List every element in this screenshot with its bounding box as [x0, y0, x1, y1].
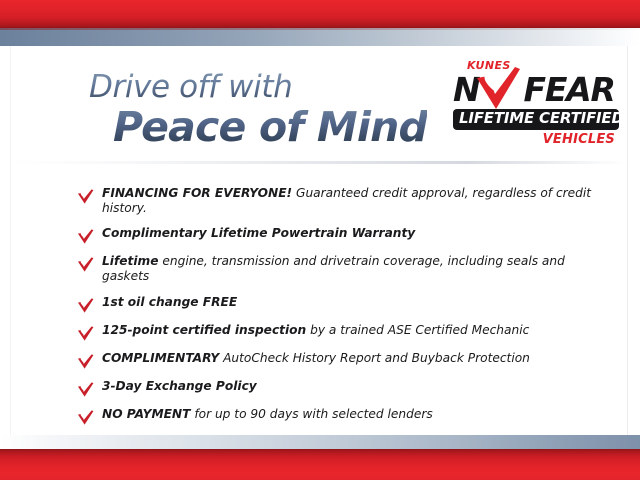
top-blue-band	[0, 28, 640, 46]
benefit-item: Lifetime engine, transmission and drivet…	[77, 254, 607, 284]
benefit-text: Complimentary Lifetime Powertrain Warran…	[102, 226, 415, 241]
check-icon-wrap	[77, 226, 102, 244]
benefit-item: NO PAYMENT for up to 90 days with select…	[77, 407, 607, 425]
benefit-headline: 1st oil change FREE	[102, 295, 237, 309]
check-icon-wrap	[77, 351, 102, 369]
logo-letter-n: N	[453, 70, 479, 109]
logo-letter-gap: O	[479, 70, 523, 109]
check-icon-wrap	[77, 407, 102, 425]
headline-line-1: Drive off with	[89, 72, 427, 103]
check-icon	[77, 382, 94, 397]
check-icon-wrap	[77, 295, 102, 313]
check-icon	[77, 298, 94, 313]
check-icon	[77, 354, 94, 369]
header: Drive off with Peace of Mind KUNES NOFEA…	[11, 46, 627, 164]
logo-word-nofear: NOFEAR	[453, 72, 619, 108]
benefit-item: 3-Day Exchange Policy	[77, 379, 607, 397]
check-icon	[77, 257, 94, 272]
benefit-item: COMPLIMENTARY AutoCheck History Report a…	[77, 351, 607, 369]
benefit-detail: AutoCheck History Report and Buyback Pro…	[219, 351, 530, 365]
check-icon-wrap	[77, 379, 102, 397]
check-icon-wrap	[77, 186, 102, 204]
benefit-text: NO PAYMENT for up to 90 days with select…	[102, 407, 433, 422]
header-divider	[11, 161, 627, 164]
benefit-text: Lifetime engine, transmission and drivet…	[102, 254, 607, 284]
benefit-headline: 3-Day Exchange Policy	[102, 379, 257, 393]
benefit-headline: FINANCING FOR EVERYONE!	[102, 186, 292, 200]
benefit-item: 125-point certified inspection by a trai…	[77, 323, 607, 341]
benefit-detail: for up to 90 days with selected lenders	[190, 407, 432, 421]
benefit-item: FINANCING FOR EVERYONE! Guaranteed credi…	[77, 186, 607, 216]
logo-lifetime-certified-banner: LIFETIME CERTIFIED	[453, 109, 619, 130]
bottom-red-band	[0, 449, 640, 480]
benefit-text: 1st oil change FREE	[102, 295, 237, 310]
check-icon	[77, 189, 94, 204]
promo-flyer: Drive off with Peace of Mind KUNES NOFEA…	[0, 0, 640, 480]
logo-vehicles-text: VEHICLES	[453, 133, 619, 146]
page-title: Drive off with Peace of Mind	[89, 72, 427, 148]
benefit-text: 3-Day Exchange Policy	[102, 379, 257, 394]
check-icon	[77, 410, 94, 425]
top-red-band	[0, 0, 640, 28]
benefit-headline: Complimentary Lifetime Powertrain Warran…	[102, 226, 415, 240]
check-icon-wrap	[77, 323, 102, 341]
check-icon	[77, 229, 94, 244]
benefit-headline: NO PAYMENT	[102, 407, 190, 421]
benefit-text: 125-point certified inspection by a trai…	[102, 323, 529, 338]
benefit-headline: Lifetime	[102, 254, 158, 268]
logo-wordmark: NOFEAR	[453, 72, 619, 108]
benefits-list: FINANCING FOR EVERYONE! Guaranteed credi…	[77, 186, 607, 478]
check-icon-wrap	[77, 254, 102, 272]
check-icon	[77, 326, 94, 341]
kunes-no-fear-logo: KUNES NOFEAR LIFETIME CERTIFIED VEHICLES	[453, 60, 619, 146]
headline-line-2: Peace of Mind	[113, 107, 427, 148]
benefit-headline: COMPLIMENTARY	[102, 351, 219, 365]
benefit-item: 1st oil change FREE	[77, 295, 607, 313]
content-card: Drive off with Peace of Mind KUNES NOFEA…	[10, 46, 628, 445]
logo-word-fear: FEAR	[523, 70, 614, 109]
benefit-detail: by a trained ASE Certified Mechanic	[306, 323, 529, 337]
benefit-text: COMPLIMENTARY AutoCheck History Report a…	[102, 351, 530, 366]
benefit-item: Complimentary Lifetime Powertrain Warran…	[77, 226, 607, 244]
bottom-blue-band	[0, 435, 640, 449]
benefit-text: FINANCING FOR EVERYONE! Guaranteed credi…	[102, 186, 607, 216]
benefit-headline: 125-point certified inspection	[102, 323, 306, 337]
benefit-detail: engine, transmission and drivetrain cove…	[102, 254, 565, 283]
